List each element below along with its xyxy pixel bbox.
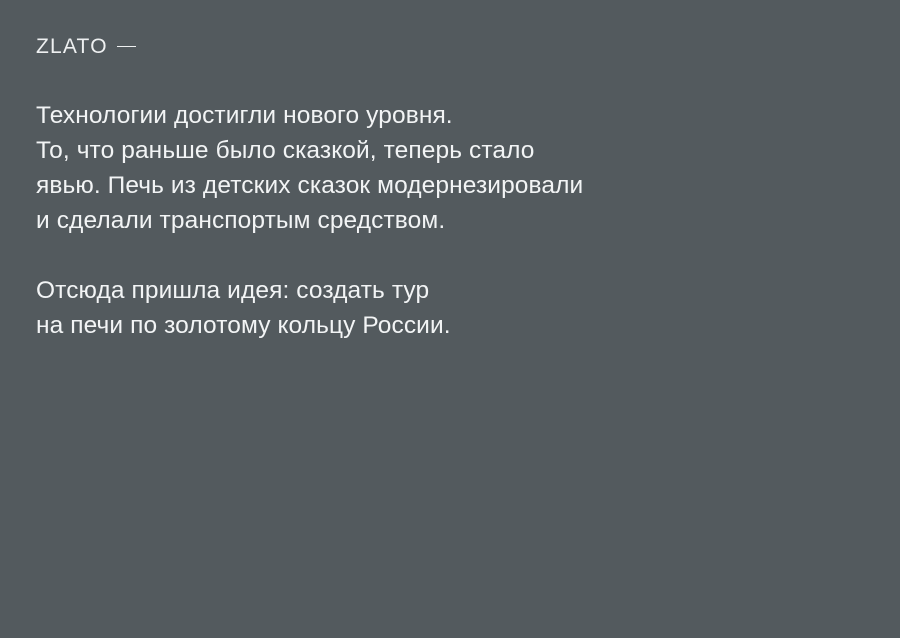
em-dash-icon (117, 46, 136, 48)
paragraph: Отсюда пришла идея: создать тур на печи … (36, 273, 796, 343)
text-line: и сделали транспортым средством. (36, 203, 796, 238)
paragraph: Технологии достигли нового уровня. То, ч… (36, 98, 796, 238)
body-copy: Технологии достигли нового уровня. То, ч… (36, 98, 796, 343)
text-line: Технологии достигли нового уровня. (36, 98, 796, 133)
presentation-slide: ZLATO Технологии достигли нового уровня.… (0, 0, 900, 638)
text-line: Отсюда пришла идея: создать тур (36, 273, 796, 308)
text-line: То, что раньше было сказкой, теперь стал… (36, 133, 796, 168)
text-line: явью. Печь из детских сказок модернезиро… (36, 168, 796, 203)
text-line: на печи по золотому кольцу России. (36, 308, 796, 343)
brand-logo: ZLATO (36, 36, 136, 57)
brand-wordmark: ZLATO (36, 36, 108, 57)
